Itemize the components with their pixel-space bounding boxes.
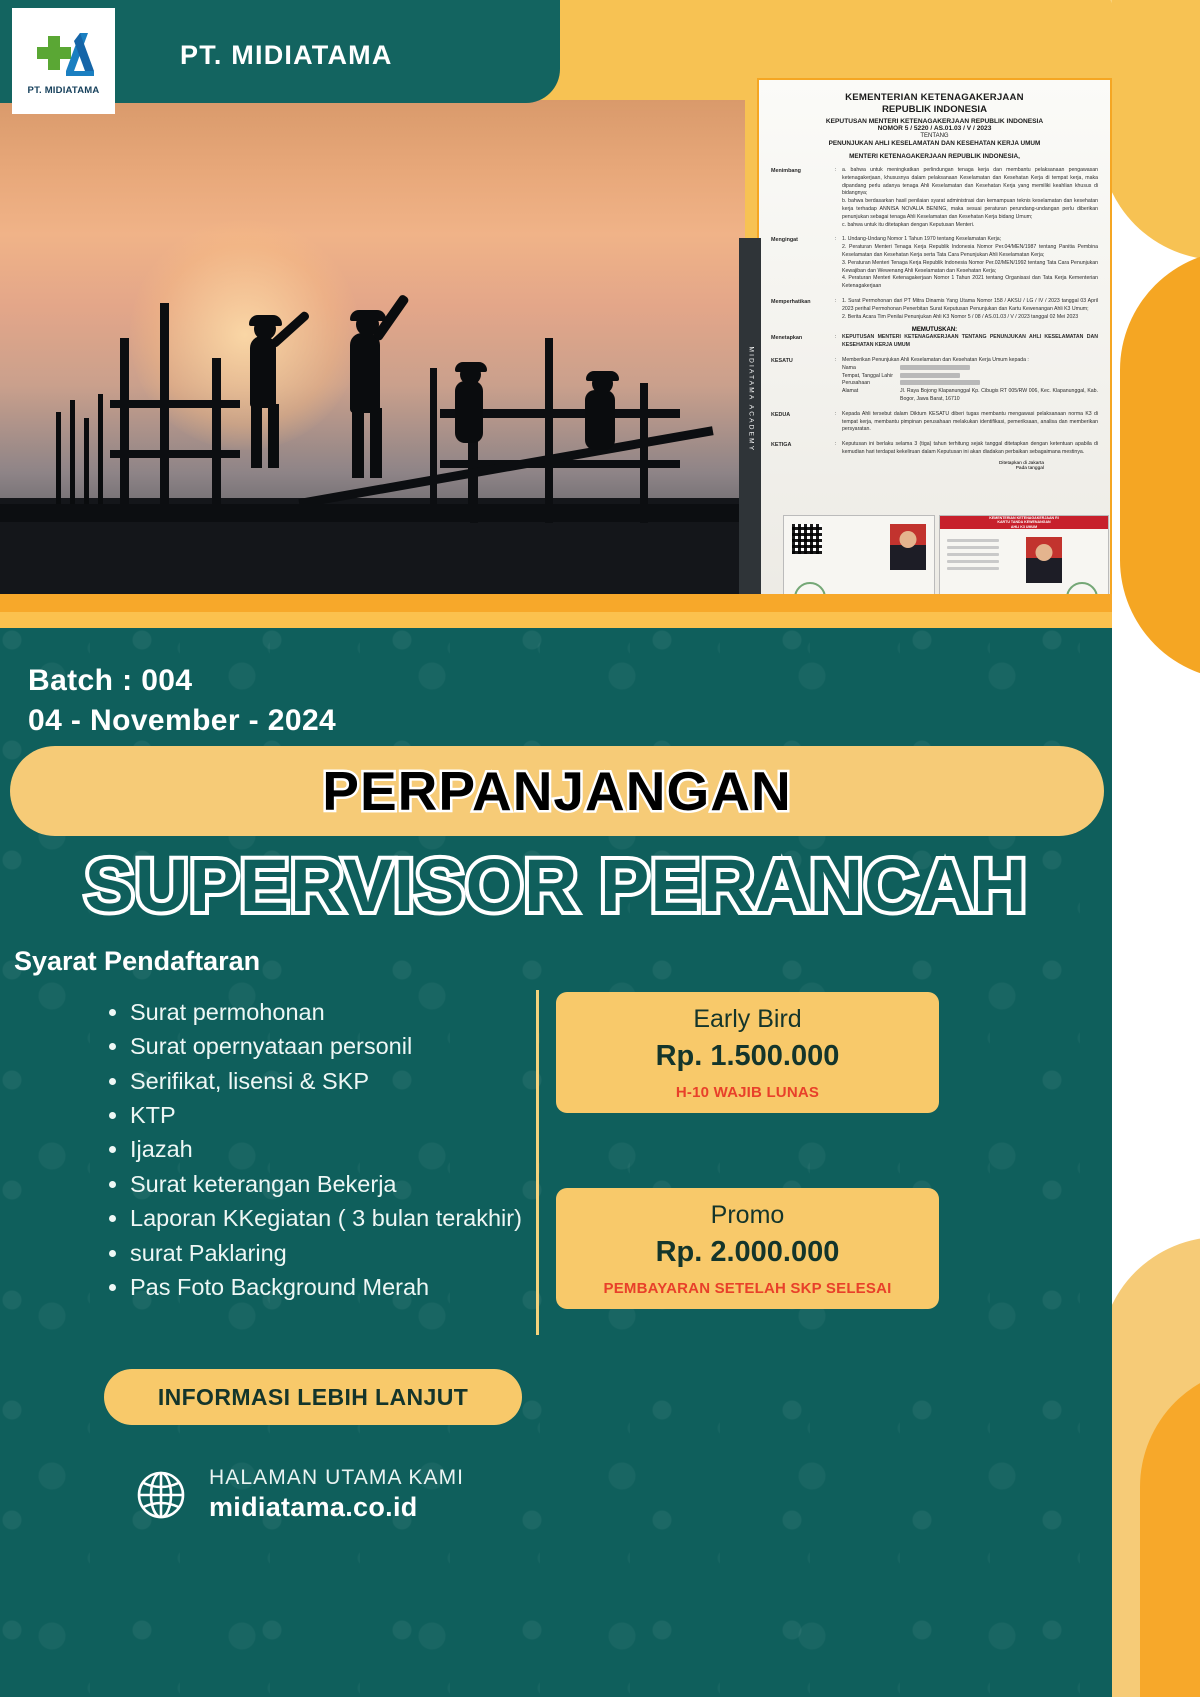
scaffold-post [160, 303, 169, 518]
midiatama-logo-icon [33, 27, 95, 79]
list-item: KTP [130, 1099, 530, 1132]
section-colon: : [835, 236, 842, 291]
worker-silhouette [585, 390, 615, 450]
rebar [84, 418, 89, 504]
more-info-label: INFORMASI LEBIH LANJUT [158, 1384, 468, 1411]
price-title: Early Bird [566, 1005, 929, 1033]
scaffold-post [120, 338, 129, 518]
id-qr-code [792, 524, 822, 554]
list-item: Surat keterangan Bekerja [130, 1168, 530, 1201]
ministry-line-1: KEMENTERIAN KETENAGAKERJAAN [771, 92, 1098, 103]
section-body: Memberikan Penunjukan Ahli Keselamatan d… [842, 357, 1098, 404]
kesatu-intro: Memberikan Penunjukan Ahli Keselamatan d… [842, 357, 1098, 365]
section-key: Menetapkan [771, 334, 835, 350]
company-logo-card: PT. MIDIATAMA [12, 8, 115, 114]
worker-silhouette [251, 404, 262, 468]
worker-helmet [249, 315, 282, 326]
section-colon: : [835, 298, 842, 321]
website-footer[interactable]: HALAMAN UTAMA KAMI midiatama.co.id [135, 1466, 464, 1523]
section-key: KESATU [771, 357, 835, 404]
perpanjangan-label: PERPANJANGAN [322, 759, 791, 823]
certificate-section: KETIGA : Keputusan ini berlaku selama 3 … [771, 441, 1098, 457]
certificate-document: KEMENTERIAN KETENAGAKERJAAN REPUBLIK IND… [739, 78, 1112, 621]
section-item: 4. Peraturan Menteri Ketenagakerjaan Nom… [842, 275, 1098, 291]
website-label: HALAMAN UTAMA KAMI [209, 1466, 464, 1490]
field-label: Perusahaan [842, 380, 900, 388]
field-value: Jl. Raya Bojong Klapanunggal Kp. Cibugis… [900, 388, 1098, 404]
right-edge-decoration [1112, 0, 1200, 1697]
decree-number: NOMOR 5 / 5220 / AS.01.03 / V / 2023 [771, 125, 1098, 132]
section-item: 2. Peraturan Menteri Tenaga Kerja Republ… [842, 244, 1098, 260]
section-item: 1. Undang-Undang Nomor 1 Tahun 1970 tent… [842, 236, 1098, 244]
certificate-section: Menimbang : a. bahwa untuk meningkatkan … [771, 167, 1098, 229]
globe-icon [135, 1469, 187, 1521]
section-colon: : [835, 167, 842, 229]
redacted-value [900, 380, 980, 385]
academy-spine-label: MIDIATAMA ACADEMY [748, 347, 755, 437]
section-item: a. bahwa untuk meningkatkan perlindungan… [842, 167, 1098, 198]
section-key: KEDUA [771, 411, 835, 434]
perpanjangan-banner: PERPANJANGAN [10, 746, 1104, 836]
field-label: Tempat, Tanggal Lahir [842, 373, 900, 381]
certificate-section: Memperhatikan : 1. Surat Permohonan dari… [771, 298, 1098, 321]
list-item: Surat opernyataan personil [130, 1030, 530, 1063]
poster-root: PT. MIDIATAMA PT. MIDIATAMA KEMENTERIAN … [0, 0, 1112, 1697]
scaffold-post [545, 338, 553, 523]
certificate-section: Menetapkan : KEPUTUSAN MENTERI KETENAGAK… [771, 334, 1098, 350]
construction-photo [0, 100, 745, 618]
redacted-value [900, 373, 960, 378]
section-body: Keputusan ini berlaku selama 3 (tiga) ta… [842, 441, 1098, 457]
price-amount: Rp. 2.000.000 [566, 1236, 929, 1269]
memutuskan-label: MEMUTUSKAN: [771, 327, 1098, 333]
rebar [56, 412, 61, 504]
document-spine: MIDIATAMA ACADEMY [739, 238, 761, 621]
rebar [70, 400, 75, 504]
price-amount: Rp. 1.500.000 [566, 1040, 929, 1073]
section-item: 2. Berita Acara Tim Penilai Penunjukan A… [842, 314, 1098, 322]
batch-date: 04 - November - 2024 [28, 701, 336, 741]
edge-shape-middle [1120, 250, 1200, 680]
portrait-photo [1026, 537, 1062, 583]
more-info-button[interactable]: INFORMASI LEBIH LANJUT [104, 1369, 522, 1425]
price-card-early-bird: Early Bird Rp. 1.500.000 H-10 WAJIB LUNA… [556, 992, 939, 1113]
section-colon: : [835, 334, 842, 350]
price-title: Promo [566, 1201, 929, 1229]
ministry-line-2: REPUBLIK INDONESIA [771, 104, 1098, 115]
rebar [98, 394, 103, 504]
certificate-section: Mengingat : 1. Undang-Undang Nomor 1 Tah… [771, 236, 1098, 291]
ditetapkan-block: Ditetapkan di Jakarta Pada tanggal [771, 461, 1098, 471]
pada-line: Pada tanggal [771, 466, 1044, 471]
company-title: PT. MIDIATAMA [180, 40, 393, 71]
list-item: Pas Foto Background Merah [130, 1271, 530, 1304]
decree-subject: PENUNJUKAN AHLI KESELAMATAN DAN KESEHATA… [771, 140, 1098, 147]
course-title: SUPERVISOR PERANCAH [85, 843, 1028, 928]
section-item: b. bahwa berdasarkan hasil penilaian sya… [842, 198, 1098, 221]
section-colon: : [835, 441, 842, 457]
section-key: KETIGA [771, 441, 835, 457]
logo-label: PT. MIDIATAMA [28, 85, 100, 96]
field-label: Nama [842, 365, 900, 373]
section-body: a. bahwa untuk meningkatkan perlindungan… [842, 167, 1098, 229]
section-body: 1. Surat Permohonan dari PT Mitra Dinami… [842, 298, 1098, 321]
section-key: Mengingat [771, 236, 835, 291]
hero-section: PT. MIDIATAMA PT. MIDIATAMA KEMENTERIAN … [0, 0, 1112, 628]
list-item: Ijazah [130, 1133, 530, 1166]
certificate-section: KESATU : Memberikan Penunjukan Ahli Kese… [771, 357, 1098, 404]
scaffold-post [640, 383, 648, 523]
price-card-promo: Promo Rp. 2.000.000 PEMBAYARAN SETELAH S… [556, 1188, 939, 1309]
content-section: Batch : 004 04 - November - 2024 PERPANJ… [0, 628, 1112, 1697]
main-platform-beam [0, 504, 745, 522]
section-colon: : [835, 357, 842, 404]
section-body: Kepada Ahli tersebut dalam Diktum KESATU… [842, 411, 1098, 434]
card-line [947, 560, 999, 563]
portrait-photo [890, 524, 926, 570]
section-key: Menimbang [771, 167, 835, 229]
list-item: Serifikat, lisensi & SKP [130, 1065, 530, 1098]
section-item: 1. Surat Permohonan dari PT Mitra Dinami… [842, 298, 1098, 314]
batch-info: Batch : 004 04 - November - 2024 [28, 661, 336, 740]
batch-number: Batch : 004 [28, 661, 336, 701]
card-text-lines [947, 539, 999, 574]
worker-helmet [455, 362, 487, 372]
worker-silhouette [268, 404, 279, 468]
certificate-section: KEDUA : Kepada Ahli tersebut dalam Diktu… [771, 411, 1098, 434]
scaffold-post [212, 358, 221, 518]
card-line [947, 553, 999, 556]
website-url[interactable]: midiatama.co.id [209, 1492, 464, 1523]
field-label: Alamat [842, 388, 900, 404]
decree-line: KEPUTUSAN MENTERI KETENAGAKERJAAN REPUBL… [771, 118, 1098, 125]
worker-silhouette [370, 408, 382, 478]
section-colon: : [835, 411, 842, 434]
section-item: c. bahwa untuk itu ditetapkan dengan Kep… [842, 222, 1098, 230]
card-line [947, 567, 999, 570]
worker-silhouette [455, 381, 483, 443]
requirements-list: Surat permohonan Surat opernyataan perso… [130, 996, 530, 1305]
worker-helmet [586, 371, 619, 381]
worker-silhouette [352, 408, 364, 478]
list-item: Laporan KKegiatan ( 3 bulan terakhir) [130, 1202, 530, 1235]
section-body: 1. Undang-Undang Nomor 1 Tahun 1970 tent… [842, 236, 1098, 291]
decree-authority: MENTERI KETENAGAKERJAAN REPUBLIK INDONES… [771, 153, 1098, 160]
list-item: Surat permohonan [130, 996, 530, 1029]
redacted-value [900, 365, 970, 370]
card-line [947, 539, 999, 542]
section-body: KEPUTUSAN MENTERI KETENAGAKERJAAN TENTAN… [842, 334, 1098, 350]
worker-silhouette [350, 333, 380, 413]
worker-silhouette [250, 336, 276, 408]
worker-helmet [350, 310, 386, 321]
about-label: TENTANG [771, 133, 1098, 139]
price-note: PEMBAYARAN SETELAH SKP SELESAI [566, 1280, 929, 1297]
card-line [947, 546, 999, 549]
edge-shape-top [1112, 0, 1200, 260]
website-text-block: HALAMAN UTAMA KAMI midiatama.co.id [209, 1466, 464, 1523]
requirements-heading: Syarat Pendaftaran [14, 946, 260, 977]
vertical-divider [536, 990, 539, 1335]
section-key: Memperhatikan [771, 298, 835, 321]
card-title-band: KEMENTERIAN KETENAGAKERJAAN RI KARTU TAN… [940, 516, 1108, 529]
ladder-rail [430, 368, 437, 518]
section-item: 3. Peraturan Menteri Tenaga Kerja Republ… [842, 260, 1098, 276]
hero-divider-strip-light [0, 612, 1112, 628]
list-item: surat Paklaring [130, 1237, 530, 1270]
price-note: H-10 WAJIB LUNAS [566, 1084, 929, 1101]
